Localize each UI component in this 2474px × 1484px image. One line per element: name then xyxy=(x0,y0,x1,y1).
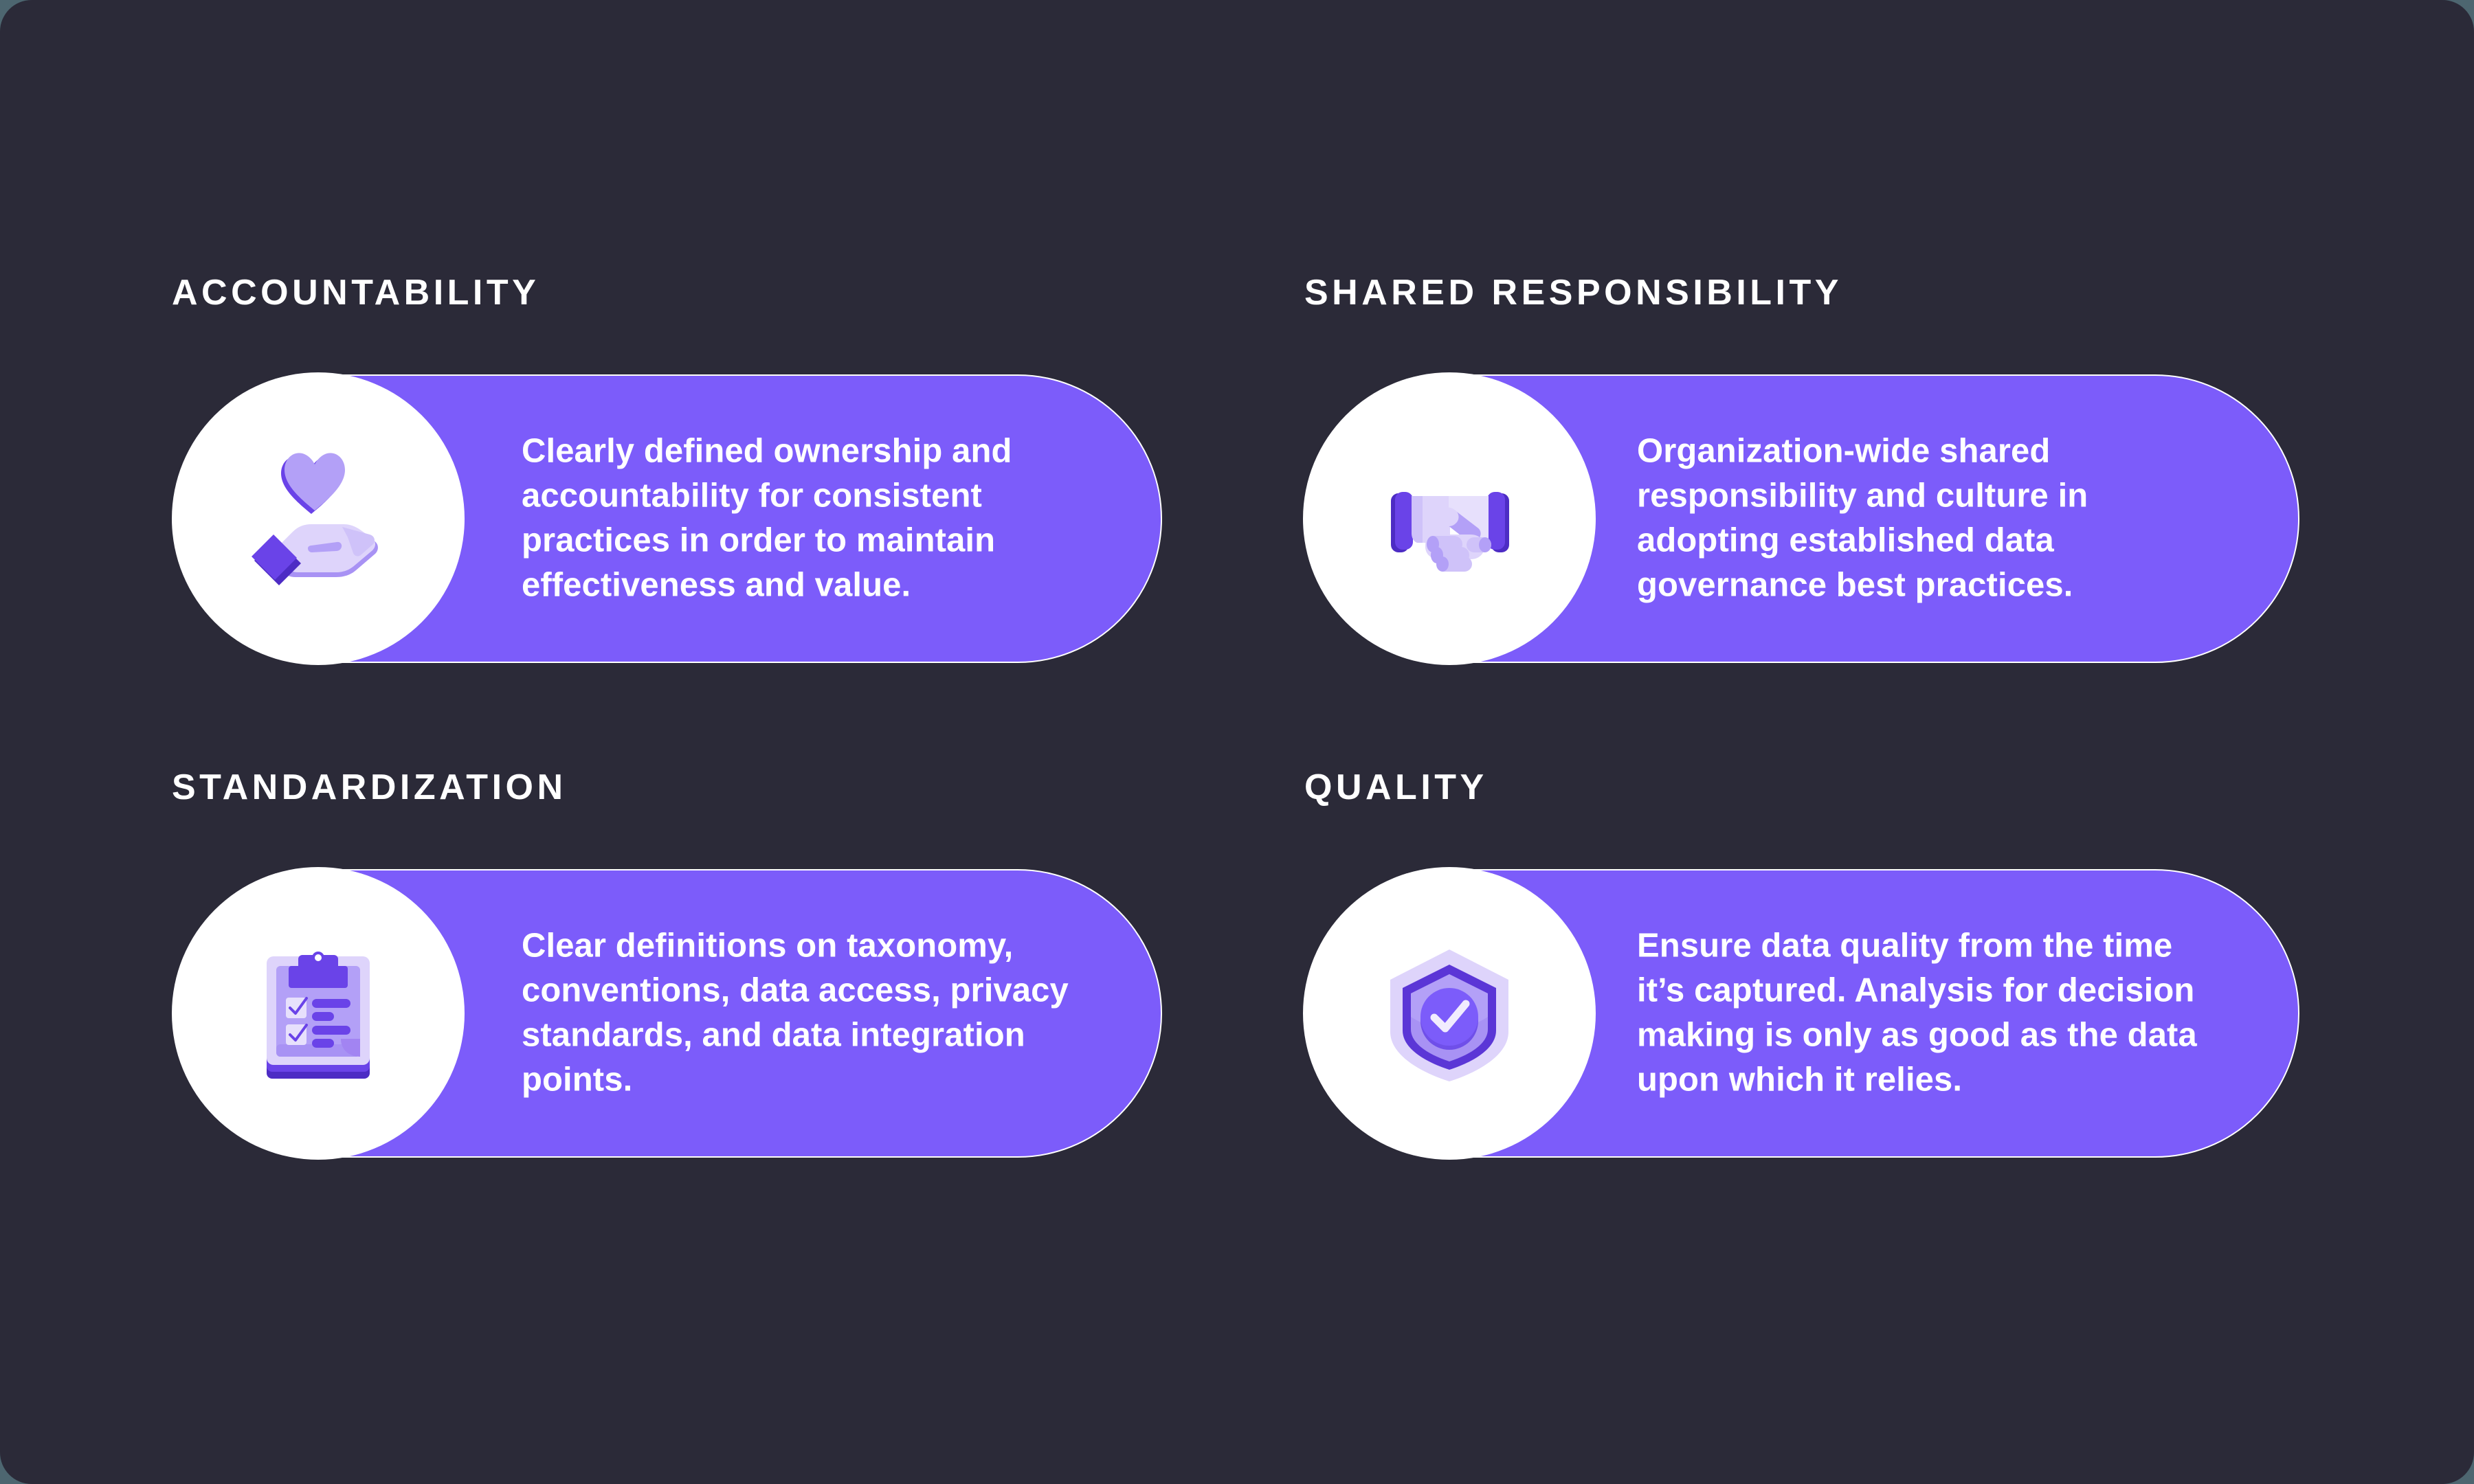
icon-disc xyxy=(172,372,465,665)
shield-check-icon xyxy=(1374,934,1525,1092)
principles-grid: ACCOUNTABILITY Clearly defined ownership… xyxy=(0,0,2474,1484)
icon-disc xyxy=(1303,867,1596,1160)
card-title: ACCOUNTABILITY xyxy=(172,275,539,311)
card-body-text: Clear definitions on taxonomy, conventio… xyxy=(522,924,1113,1103)
heart-in-hand-icon xyxy=(239,440,397,598)
icon-disc xyxy=(1303,372,1596,665)
card-title: STANDARDIZATION xyxy=(172,769,567,805)
handshake-icon xyxy=(1370,440,1528,598)
icon-disc xyxy=(172,867,465,1160)
card-body-text: Organization-wide shared responsibility … xyxy=(1637,429,2159,609)
card-body-text: Clearly defined ownership and accountabi… xyxy=(522,429,1078,609)
card-title: SHARED RESPONSIBILITY xyxy=(1304,275,1842,311)
dark-panel: ACCOUNTABILITY Clearly defined ownership… xyxy=(0,0,2474,1484)
clipboard-checklist-icon xyxy=(246,934,390,1092)
card-title: QUALITY xyxy=(1304,769,1488,805)
card-body-text: Ensure data quality from the time it’s c… xyxy=(1637,924,2207,1103)
